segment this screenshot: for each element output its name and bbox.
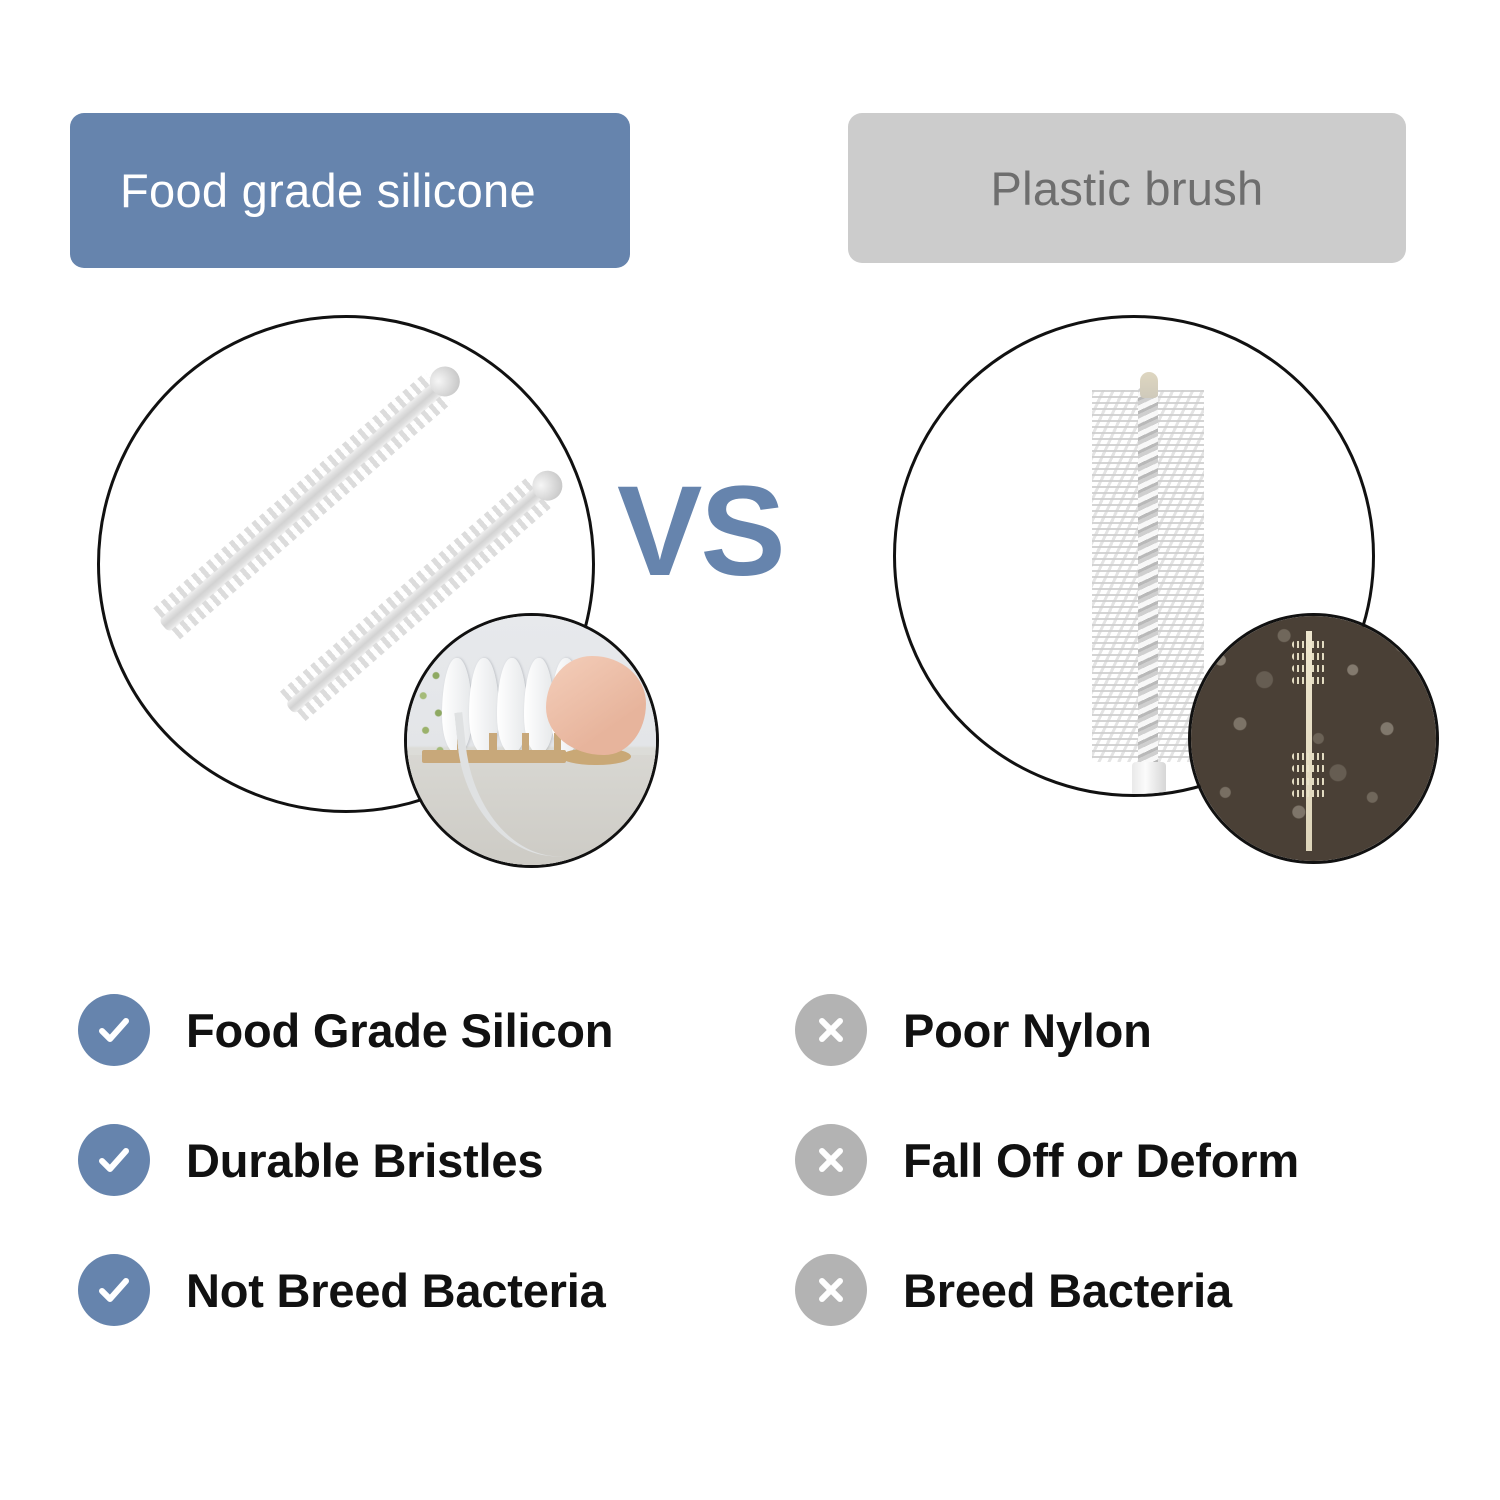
brush-bristles-top — [153, 372, 433, 618]
check-icon — [78, 994, 150, 1066]
check-icon — [78, 1254, 150, 1326]
silicone-usage-inset-photo — [404, 613, 659, 868]
cross-icon — [795, 1254, 867, 1326]
feature-label: Durable Bristles — [186, 1133, 543, 1188]
kitchen-scene — [407, 616, 656, 865]
banner-right-label: Plastic brush — [991, 161, 1264, 216]
worn-bristle-tuft — [1292, 778, 1326, 785]
cross-icon — [795, 1124, 867, 1196]
worn-bristle-tuft — [1292, 677, 1326, 684]
feature-row: Durable Bristles — [78, 1095, 718, 1225]
check-icon — [78, 1124, 150, 1196]
banner-plastic-brush: Plastic brush — [848, 113, 1406, 263]
nylon-brush-body — [1092, 372, 1204, 782]
banner-left-label: Food grade silicone — [120, 163, 536, 218]
nylon-brush-handle — [1132, 762, 1166, 797]
feature-label: Breed Bacteria — [903, 1263, 1232, 1318]
comparison-infographic: Food grade silicone Plastic brush — [0, 0, 1500, 1500]
banner-food-grade-silicone: Food grade silicone — [70, 113, 630, 268]
vs-label: VS — [617, 468, 784, 596]
feature-row: Not Breed Bacteria — [78, 1225, 718, 1355]
worn-bristle-tuft — [1292, 765, 1326, 772]
feature-list-plastic: Poor Nylon Fall Off or Deform Breed Bact… — [795, 965, 1435, 1355]
feature-label: Food Grade Silicon — [186, 1003, 613, 1058]
feature-row: Fall Off or Deform — [795, 1095, 1435, 1225]
feature-row: Food Grade Silicon — [78, 965, 718, 1095]
nylon-brush-tip — [1140, 372, 1158, 398]
feature-row: Poor Nylon — [795, 965, 1435, 1095]
worn-brush-shaft — [1306, 631, 1312, 852]
dirty-surface-scene — [1191, 616, 1436, 861]
worn-bristle-tuft — [1292, 790, 1326, 797]
nylon-twisted-wire-core — [1138, 388, 1158, 766]
feature-list-silicone: Food Grade Silicon Durable Bristles Not … — [78, 965, 718, 1355]
feature-label: Not Breed Bacteria — [186, 1263, 606, 1318]
feature-label: Fall Off or Deform — [903, 1133, 1299, 1188]
cross-icon — [795, 994, 867, 1066]
worn-bristle-tuft — [1292, 653, 1326, 660]
feature-row: Breed Bacteria — [795, 1225, 1435, 1355]
worn-bristle-tuft — [1292, 753, 1326, 760]
feature-label: Poor Nylon — [903, 1003, 1152, 1058]
worn-bristle-tuft — [1292, 665, 1326, 672]
worn-bristle-tuft — [1292, 641, 1326, 648]
worn-nylon-inset-photo — [1188, 613, 1439, 864]
